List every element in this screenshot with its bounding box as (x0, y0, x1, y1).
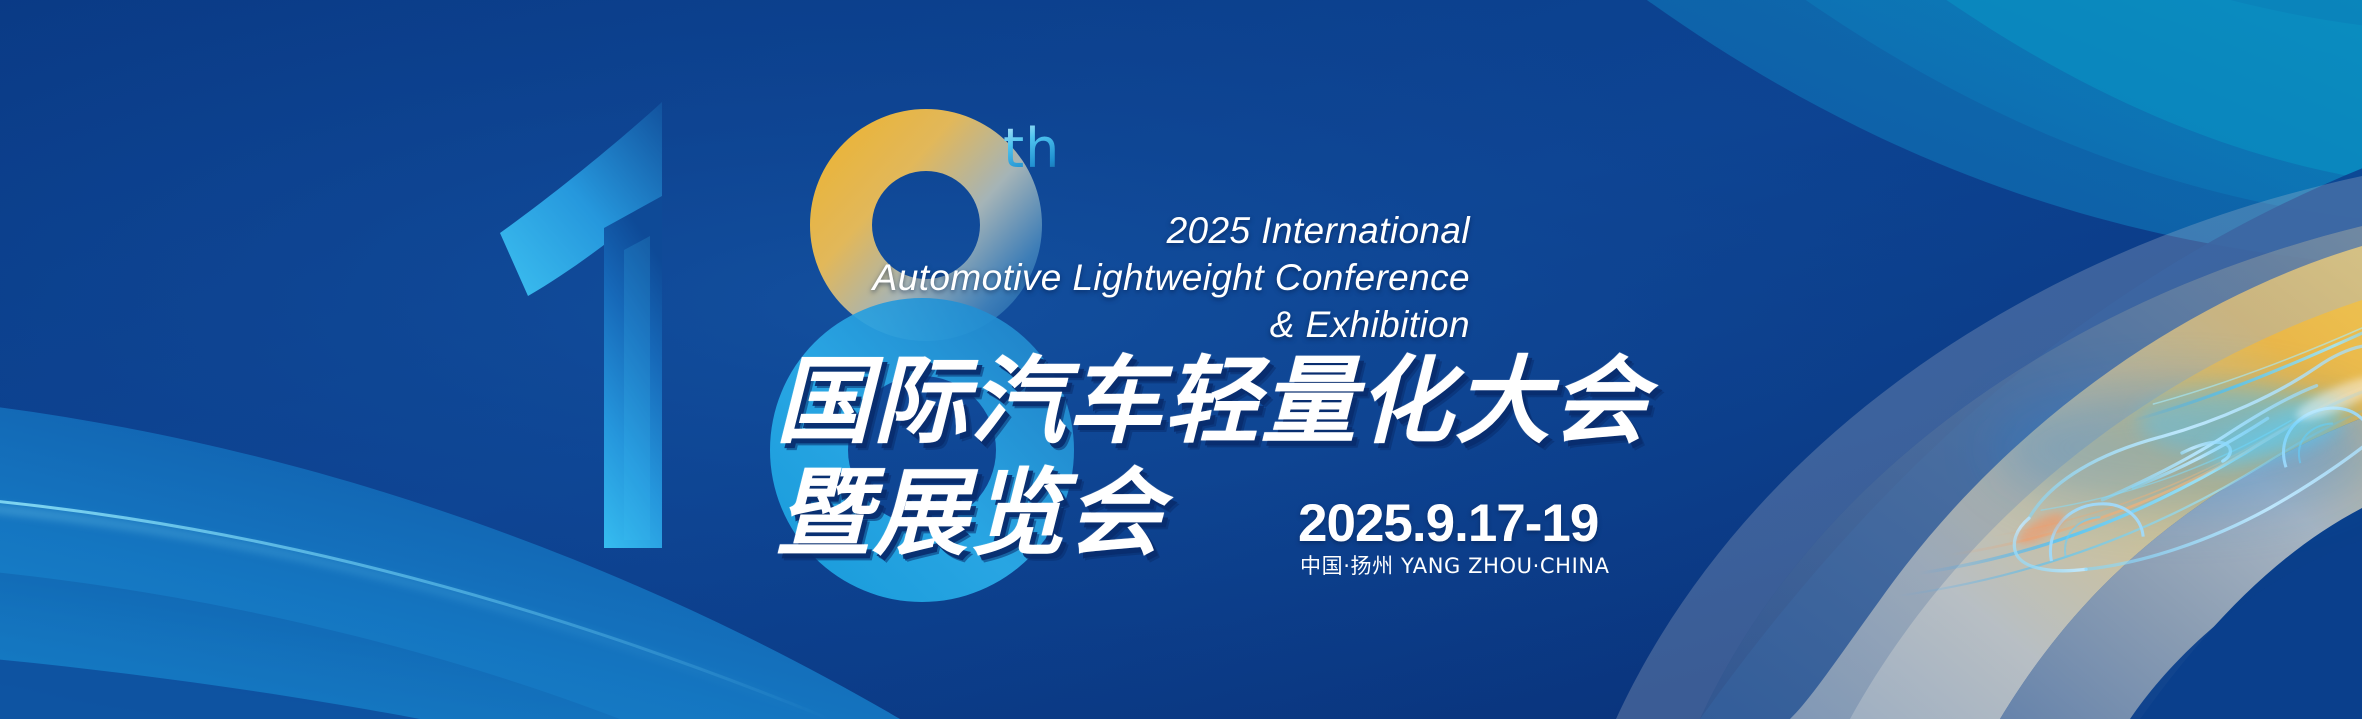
banner-text-content: th 2025 International Automotive Lightwe… (0, 0, 2362, 719)
english-title-line2: Automotive Lightweight Conference (810, 255, 1470, 302)
english-title-line3: & Exhibition (810, 302, 1470, 349)
event-date: 2025.9.17-19 (1298, 497, 1598, 550)
conference-banner: th 2025 International Automotive Lightwe… (0, 0, 2362, 719)
english-title-line1: 2025 International (810, 208, 1470, 255)
chinese-title-line2: 暨展览会 (776, 467, 1164, 562)
chinese-title-line1: 国际汽车轻量化大会 (776, 355, 1649, 450)
english-title: 2025 International Automotive Lightweigh… (810, 208, 1470, 349)
ordinal-suffix-th: th (1003, 122, 1060, 176)
event-location: 中国·扬州 YANG ZHOU·CHINA (1300, 556, 1610, 577)
